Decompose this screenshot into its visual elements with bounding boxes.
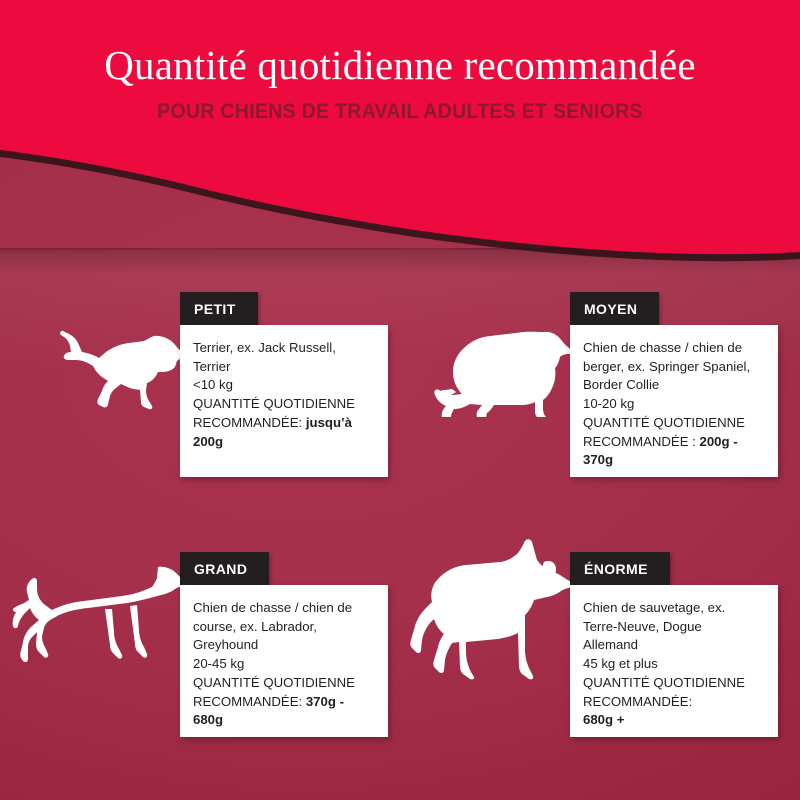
breed-line-3: Greyhound [193, 636, 375, 655]
amount-continued: 680g [193, 711, 375, 730]
card-petit[interactable]: PETIT Terrier, ex. Jack Russell, Terrier… [180, 292, 388, 477]
recommended-daily-amount-poster: Quantité quotidienne recommandée POUR CH… [0, 0, 800, 800]
header-text-block: Quantité quotidienne recommandée POUR CH… [0, 0, 800, 124]
card-body-enorme: Chien de sauvetage, ex. Terre-Neuve, Dog… [570, 585, 778, 737]
weight-range: 20-45 kg [193, 655, 375, 674]
recommendation-label-line-1: QUANTITÉ QUOTIDIENNE [583, 414, 765, 433]
breed-line-2: Terrier [193, 358, 375, 377]
recommendation-label-line-1: QUANTITÉ QUOTIDIENNE [193, 395, 375, 414]
breed-line-2: berger, ex. Springer Spaniel, [583, 358, 765, 377]
breed-line-1: Chien de sauvetage, ex. [583, 599, 765, 618]
recommendation-label-line-1: QUANTITÉ QUOTIDIENNE [583, 674, 765, 693]
card-body-grand: Chien de chasse / chien de course, ex. L… [180, 585, 388, 737]
breed-line-3: Border Collie [583, 376, 765, 395]
amount-inline: 370g - [306, 694, 344, 709]
recommendation-label-line-2: RECOMMANDÉE: [193, 415, 302, 430]
amount-inline: 200g - [700, 434, 738, 449]
breed-line-1: Terrier, ex. Jack Russell, [193, 339, 375, 358]
recommendation-label-line-1: QUANTITÉ QUOTIDIENNE [193, 674, 375, 693]
page-subtitle: POUR CHIENS DE TRAVAIL ADULTES ET SENIOR… [28, 87, 772, 124]
card-grand[interactable]: GRAND Chien de chasse / chien de course,… [180, 552, 388, 737]
card-tab-label-petit: PETIT [180, 292, 258, 325]
card-body-petit: Terrier, ex. Jack Russell, Terrier <10 k… [180, 325, 388, 477]
amount-inline: jusqu’à [306, 415, 352, 430]
weight-range: <10 kg [193, 376, 375, 395]
card-moyen[interactable]: MOYEN Chien de chasse / chien de berger,… [570, 292, 778, 477]
amount-continued: 200g [193, 433, 375, 452]
breed-line-1: Chien de chasse / chien de [193, 599, 375, 618]
card-tab-label-enorme: ÉNORME [570, 552, 670, 585]
amount-continued: 370g [583, 451, 765, 470]
card-enorme[interactable]: ÉNORME Chien de sauvetage, ex. Terre-Neu… [570, 552, 778, 737]
recommendation-label-line-2: RECOMMANDÉE: [583, 693, 765, 712]
card-tab-label-grand: GRAND [180, 552, 269, 585]
breed-line-3: Allemand [583, 636, 765, 655]
breed-line-2: Terre-Neuve, Dogue [583, 618, 765, 637]
card-tab-label-moyen: MOYEN [570, 292, 659, 325]
breed-line-2: course, ex. Labrador, [193, 618, 375, 637]
header-banner: Quantité quotidienne recommandée POUR CH… [0, 0, 800, 290]
card-body-moyen: Chien de chasse / chien de berger, ex. S… [570, 325, 778, 477]
weight-range: 45 kg et plus [583, 655, 765, 674]
amount-continued: 680g + [583, 711, 765, 730]
weight-range: 10-20 kg [583, 395, 765, 414]
recommendation-label-line-2: RECOMMANDÉE : [583, 434, 696, 449]
breed-line-1: Chien de chasse / chien de [583, 339, 765, 358]
page-title: Quantité quotidienne recommandée [0, 0, 800, 87]
recommendation-label-line-2: RECOMMANDÉE: [193, 694, 302, 709]
